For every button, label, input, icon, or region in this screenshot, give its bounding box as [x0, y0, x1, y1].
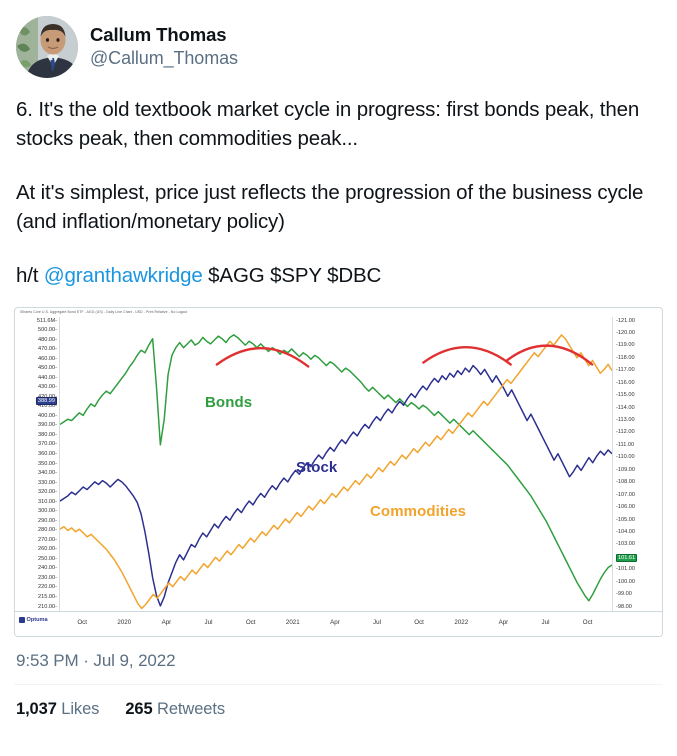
axis-tick-x: 2022	[454, 619, 468, 626]
axis-tick: -104.00	[616, 529, 635, 535]
axis-tick-x: Jul	[373, 619, 381, 626]
tweet-paragraph-1: 6. It's the old textbook market cycle in…	[16, 96, 661, 153]
author-names: Callum Thomas @Callum_Thomas	[90, 24, 238, 69]
axis-tick: 460.00-	[38, 356, 57, 362]
axis-tick: -100.00	[616, 579, 635, 585]
axis-tick: 210.00-	[38, 604, 57, 610]
axis-tick-x: 2020	[117, 619, 131, 626]
axis-tick: 340.00-	[38, 470, 57, 476]
axis-tick: 430.00-	[38, 384, 57, 390]
axis-tick: 440.00-	[38, 375, 57, 381]
axis-tick: -115.00	[616, 392, 635, 398]
likes-label: Likes	[61, 700, 99, 718]
axis-tick: -108.00	[616, 479, 635, 485]
axis-tick: 450.00-	[38, 365, 57, 371]
axis-tick: 470.00-	[38, 346, 57, 352]
chart-header-text: iShares Core U.S. Aggregate Bond ETF - A…	[20, 310, 187, 314]
cashtags: $AGG $SPY $DBC	[203, 264, 382, 287]
axis-tick-x: Jul	[205, 619, 213, 626]
axis-tick: 220.00-	[38, 584, 57, 590]
axis-tick: 310.00-	[38, 499, 57, 505]
peak-arc-stock-icon	[423, 347, 510, 364]
axis-tick: -111.00	[616, 442, 634, 448]
chart-image[interactable]: iShares Core U.S. Aggregate Bond ETF - A…	[14, 307, 663, 637]
axis-tick-x: Oct	[77, 619, 87, 626]
axis-tick: 370.00-	[38, 441, 57, 447]
likes-count: 1,037	[16, 700, 57, 718]
axis-tick: -101.00	[616, 566, 635, 572]
tweet-text: 6. It's the old textbook market cycle in…	[16, 96, 661, 291]
axis-tick: 290.00-	[38, 518, 57, 524]
axis-tick: -110.00	[616, 454, 635, 460]
axis-tick-x: Oct	[414, 619, 424, 626]
axis-tick: -116.00	[616, 380, 635, 386]
axis-tick-x: Apr	[499, 619, 509, 626]
series-line-commodities	[60, 334, 612, 608]
axis-tick: 215.00-	[38, 594, 57, 600]
axis-tick: 320.00-	[38, 489, 57, 495]
axis-tick: 240.00-	[38, 565, 57, 571]
axis-tick-x: Oct	[583, 619, 593, 626]
axis-tick-x: 2021	[286, 619, 300, 626]
tweet-header: Callum Thomas @Callum_Thomas	[16, 16, 663, 78]
axis-tick: -121.00	[616, 318, 635, 324]
author-handle[interactable]: @Callum_Thomas	[90, 48, 238, 69]
axis-highlight-value: 388.99	[36, 397, 57, 405]
axis-tick: -107.00	[616, 492, 635, 498]
axis-tick: 480.00-	[38, 337, 57, 343]
axis-tick: 250.00-	[38, 556, 57, 562]
avatar-photo-icon	[16, 16, 78, 78]
axis-tick: 380.00-	[38, 432, 57, 438]
axis-tick-x: Apr	[162, 619, 172, 626]
retweets-stat[interactable]: 265 Retweets	[125, 700, 225, 719]
axis-tick: -103.00	[616, 541, 635, 547]
axis-tick: -114.00	[616, 405, 635, 411]
axis-tick: -106.00	[616, 504, 635, 510]
axis-tick: 330.00-	[38, 480, 57, 486]
axis-tick: 230.00-	[38, 575, 57, 581]
axis-tick: 300.00-	[38, 508, 57, 514]
chart-y-axis-left: 511.6M-500.00-480.00-470.00-460.00-450.0…	[15, 317, 59, 612]
chart-series-lines	[60, 317, 612, 611]
axis-highlight-value: 101.61	[616, 554, 637, 562]
axis-tick: -112.00	[616, 429, 635, 435]
tweet-paragraph-3: h/t @granthawkridge $AGG $SPY $DBC	[16, 262, 661, 291]
mention-link[interactable]: @granthawkridge	[44, 264, 203, 287]
axis-tick: -118.00	[616, 355, 635, 361]
retweets-label: Retweets	[157, 700, 225, 718]
axis-tick: 260.00-	[38, 546, 57, 552]
axis-tick: -109.00	[616, 467, 635, 473]
axis-tick: 390.00-	[38, 422, 57, 428]
axis-tick-x: Jul	[542, 619, 550, 626]
optuma-label: Optuma	[27, 617, 48, 623]
axis-tick: -117.00	[616, 367, 635, 373]
chart-plot-area: Bonds Stock Commodities	[59, 317, 613, 612]
footer-divider	[14, 684, 663, 685]
optuma-logo-icon	[19, 617, 25, 623]
chart-x-axis: Optuma Oct2020AprJulOct2021AprJulOct2022…	[15, 611, 662, 636]
tweet-paragraph-2: At it's simplest, price just reflects th…	[16, 179, 661, 236]
axis-tick: 280.00-	[38, 527, 57, 533]
axis-tick: -98.00	[616, 604, 632, 610]
axis-tick: 350.00-	[38, 461, 57, 467]
axis-tick-x: Oct	[246, 619, 256, 626]
axis-tick: -119.00	[616, 342, 635, 348]
axis-tick: -120.00	[616, 330, 635, 336]
axis-tick: -113.00	[616, 417, 635, 423]
axis-tick: -105.00	[616, 517, 635, 523]
axis-tick: 500.00-	[38, 327, 57, 333]
tweet-timestamp: 9:53 PM · Jul 9, 2022	[16, 651, 661, 671]
likes-stat[interactable]: 1,037 Likes	[16, 700, 99, 719]
axis-tick: 270.00-	[38, 537, 57, 543]
retweets-count: 265	[125, 700, 152, 718]
axis-tick: 360.00-	[38, 451, 57, 457]
axis-tick-x: Apr	[330, 619, 340, 626]
series-line-stock	[60, 365, 612, 605]
series-line-bonds	[60, 334, 612, 600]
axis-tick: 511.6M-	[37, 318, 57, 324]
axis-tick: 400.00-	[38, 413, 57, 419]
optuma-watermark: Optuma	[19, 617, 48, 623]
tweet-card: Callum Thomas @Callum_Thomas 6. It's the…	[0, 0, 677, 756]
chart-y-axis-right: -121.00-120.00-119.00-118.00-117.00-116.…	[613, 317, 662, 612]
peak-arc-commodities-icon	[507, 345, 592, 364]
avatar[interactable]	[16, 16, 78, 78]
axis-tick: -99.00	[616, 591, 632, 597]
author-display-name[interactable]: Callum Thomas	[90, 24, 238, 46]
ht-prefix: h/t	[16, 264, 44, 287]
engagement-stats: 1,037 Likes 265 Retweets	[16, 700, 661, 719]
